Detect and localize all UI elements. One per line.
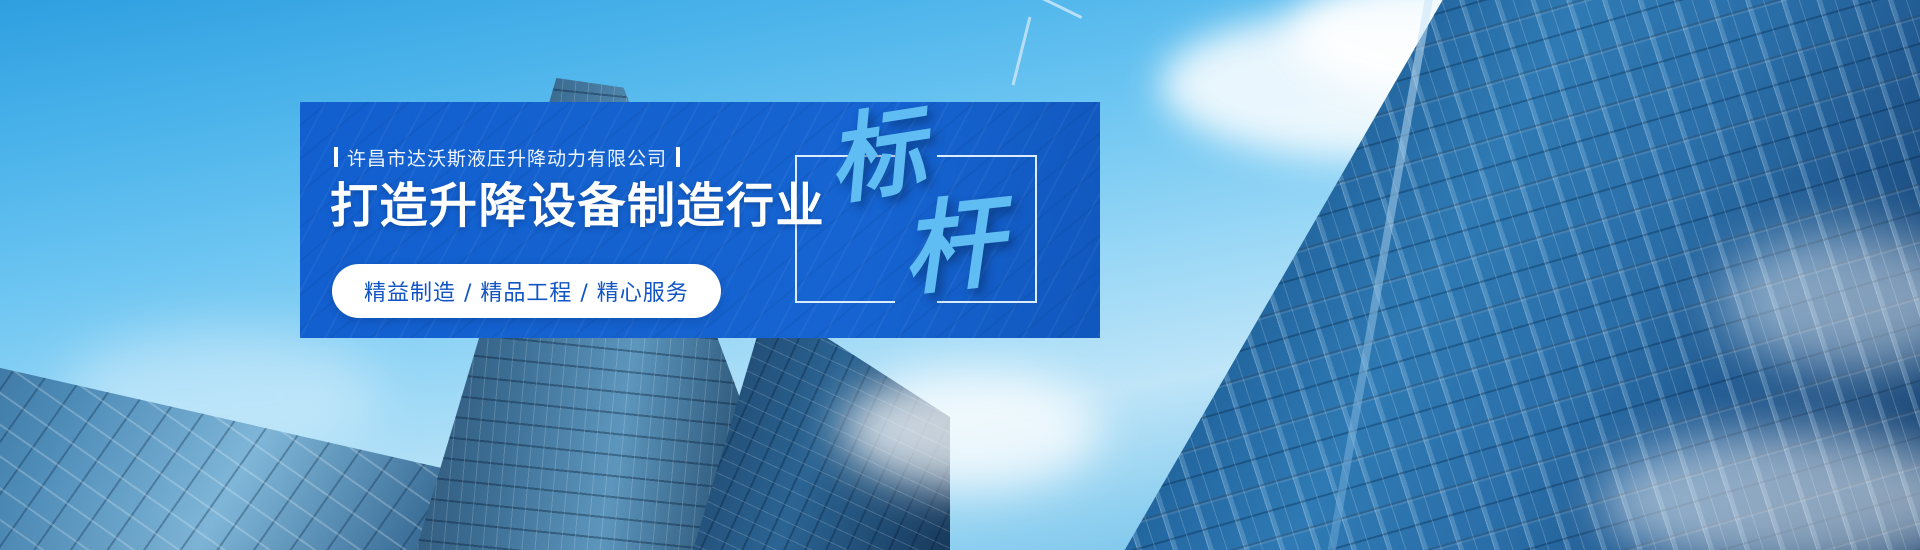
cloud [840,370,1100,490]
slogan-text: 精益制造 / 精品工程 / 精心服务 [364,281,689,306]
headline: 打造升降设备制造行业 [330,182,825,230]
frame-top-right-segment [937,155,1037,157]
frame-top-left-segment [795,155,895,157]
company-name-line: 许昌市达沃斯液压升降动力有限公司 [334,144,680,170]
company-name: 许昌市达沃斯液压升降动力有限公司 [347,144,667,171]
eyebrow-left-bar [334,147,338,167]
frame-bottom-right-segment [937,301,1037,303]
hero-banner: 许昌市达沃斯液压升降动力有限公司 打造升降设备制造行业 标 杆 精益制造 / 精… [0,0,1920,550]
frame-bottom-left-segment [795,301,895,303]
eyebrow-right-bar [676,147,680,167]
accent-frame [795,155,1037,303]
slogan-pill[interactable]: 精益制造 / 精品工程 / 精心服务 [332,264,721,318]
frame-right-segment [1035,155,1037,303]
